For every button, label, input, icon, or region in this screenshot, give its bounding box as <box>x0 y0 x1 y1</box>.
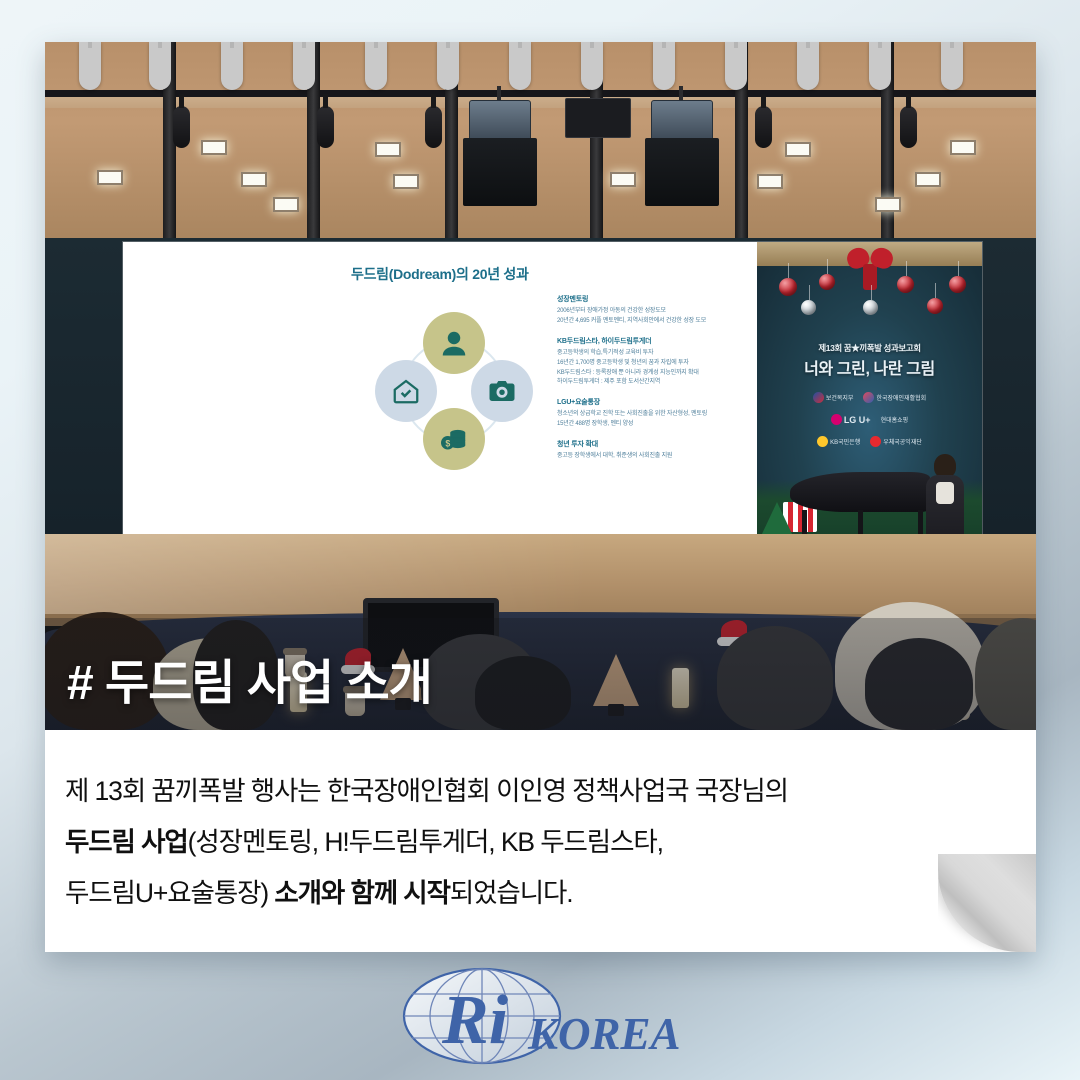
body-text-segment: 소개와 함께 시작 <box>274 878 450 908</box>
body-text-line: 제 13회 꿈끼폭발 행사는 한국장애인협회 이인영 정책사업국 국장님의 <box>65 766 1036 817</box>
ceiling-led-panel <box>375 142 401 157</box>
pendant-light <box>221 42 243 90</box>
ceiling-projector <box>645 100 719 208</box>
ribbon-bow-icon <box>847 248 893 278</box>
pendant-light <box>365 42 387 90</box>
ceiling-led-panel <box>757 174 783 189</box>
pendant-light <box>653 42 675 90</box>
ornament-ball <box>819 274 835 290</box>
ceiling-led-panel <box>201 140 227 155</box>
pendant-light <box>437 42 459 90</box>
ceiling-equipment-rack <box>565 98 631 138</box>
svg-text:$: $ <box>445 439 450 449</box>
coins-money-icon: $ <box>423 408 485 470</box>
ceiling-led-panel <box>950 140 976 155</box>
banner-subtitle: 제13회 꿈★끼폭발 성과보고회 <box>757 342 982 354</box>
banner-title: 너와 그린, 나란 그림 <box>757 355 982 379</box>
ceiling-led-panel <box>241 172 267 187</box>
body-text-line: 두드림U+요술통장) 소개와 함께 시작되었습니다. <box>65 868 1036 919</box>
pendant-light <box>581 42 603 90</box>
pendant-light <box>725 42 747 90</box>
page-curl-corner <box>938 854 1036 952</box>
ceiling-led-panel <box>785 142 811 157</box>
pine-branch <box>761 502 793 536</box>
pendant-light <box>869 42 891 90</box>
slide-diagram: $ <box>375 312 533 470</box>
ceiling-led-panel <box>393 174 419 189</box>
pendant-light <box>941 42 963 90</box>
ornament-ball <box>779 278 797 296</box>
post-logo-icon <box>870 436 881 447</box>
page-title: # 두드림 사업 소개 <box>67 660 432 708</box>
body-text-segment: (성장멘토링, H!두드림투게더, KB 두드림스타, <box>188 827 663 857</box>
ceiling-led-panel <box>915 172 941 187</box>
ornament-ball <box>949 276 966 293</box>
ceiling-led-panel <box>97 170 123 185</box>
ceiling-led-panel <box>273 197 299 212</box>
pendant-light <box>509 42 531 90</box>
slide-title: 두드림(Dodream)의 20년 성과 <box>351 264 529 284</box>
sponsor-label: 현대홈쇼핑 <box>881 415 909 424</box>
ornament-ball <box>863 300 878 315</box>
sponsor-label: LG U+ <box>844 415 871 425</box>
kb-logo-icon <box>817 436 828 447</box>
ornament-ball <box>927 298 943 314</box>
body-text-block: 제 13회 꿈끼폭발 행사는 한국장애인협회 이인영 정책사업국 국장님의 두드… <box>45 730 1036 952</box>
ceiling-led-panel <box>610 172 636 187</box>
sponsor-label: 우체국공익재단 <box>883 437 922 446</box>
body-text-segment: 두드림U+요술통장) <box>65 878 274 908</box>
body-text-segment: 두드림 사업 <box>65 827 188 857</box>
pendant-light <box>149 42 171 90</box>
sponsor-label: 보건복지부 <box>826 393 854 402</box>
ceiling-projector <box>463 100 537 208</box>
track-spotlight <box>173 106 190 148</box>
ri-korea-logo: Ri KOREA <box>0 952 1080 1080</box>
body-text-segment: 되었습니다. <box>450 878 573 908</box>
ministry-logo-icon <box>813 392 824 403</box>
ornament-ball <box>897 276 914 293</box>
person-mentoring-icon <box>423 312 485 374</box>
pendant-light <box>293 42 315 90</box>
body-text-segment: 제 13회 꿈끼폭발 행사는 한국장애인협회 이인영 정책사업국 국장님의 <box>65 776 788 806</box>
track-spotlight <box>425 106 442 148</box>
sponsor-row: 보건복지부 한국장애인재활협회 <box>757 392 982 403</box>
grand-piano <box>790 472 930 538</box>
pendant-light <box>79 42 101 90</box>
track-spotlight <box>317 106 334 148</box>
track-spotlight <box>900 106 917 148</box>
logo-text-secondary: KOREA <box>527 1009 681 1059</box>
sponsor-row: KB국민은행 우체국공익재단 <box>757 436 982 447</box>
content-card: 제13회 꿈★끼폭발 성과보고회 너와 그린, 나란 그림 보건복지부 한국장애… <box>45 42 1036 952</box>
pendant-light <box>797 42 819 90</box>
lg-logo-icon <box>831 414 842 425</box>
ri-korea-globe-logo: Ri KOREA <box>390 961 690 1071</box>
sponsor-label: KB국민은행 <box>830 437 860 446</box>
ceiling <box>45 42 1036 242</box>
sponsor-label: 한국장애인재활협회 <box>876 393 926 402</box>
track-spotlight <box>755 106 772 148</box>
body-text-line: 두드림 사업(성장멘토링, H!두드림투게더, KB 두드림스타, <box>65 817 1036 868</box>
sponsor-row: LG U+ 현대홈쇼핑 <box>757 414 982 425</box>
house-check-icon <box>375 360 437 422</box>
ornament-ball <box>801 300 816 315</box>
ri-logo-icon <box>863 392 874 403</box>
ceiling-led-panel <box>875 197 901 212</box>
event-photo: 제13회 꿈★끼폭발 성과보고회 너와 그린, 나란 그림 보건복지부 한국장애… <box>45 42 1036 730</box>
camera-icon <box>471 360 533 422</box>
logo-text-primary: Ri <box>441 982 509 1059</box>
